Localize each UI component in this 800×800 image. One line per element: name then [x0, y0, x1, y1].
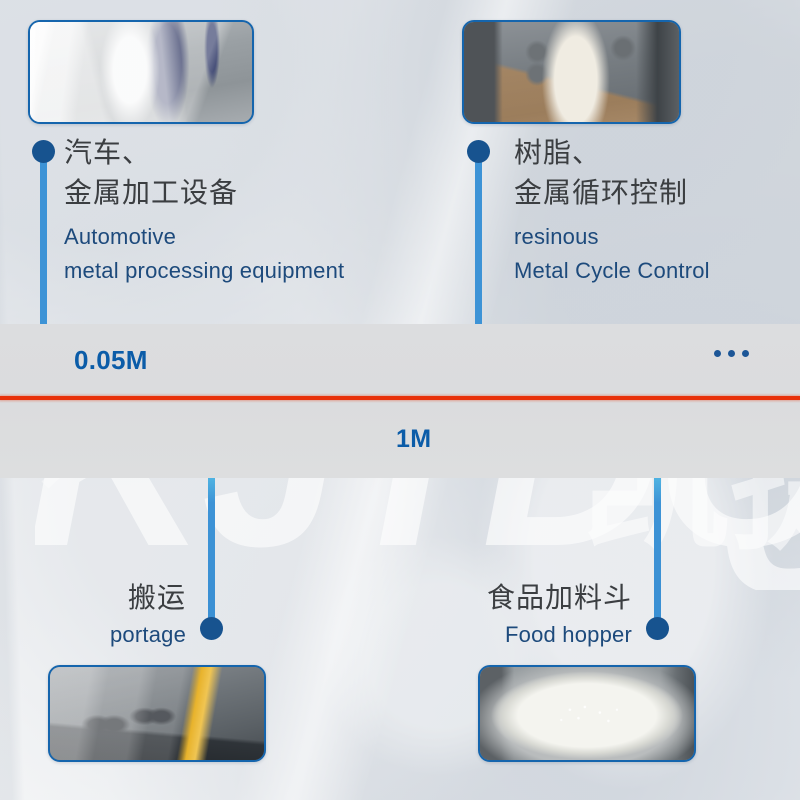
connector-node-food-hopper [646, 617, 669, 640]
connector-line-food-hopper [654, 478, 661, 633]
callout-food-hopper-en-line-1: Food hopper [400, 618, 632, 652]
callout-automotive-en-line-1: Automotive [64, 220, 344, 254]
callout-resin: 树脂、 金属循环控制 resinous Metal Cycle Control [514, 133, 710, 288]
connector-node-resin [467, 140, 490, 163]
measure-label-large: 1M [396, 425, 431, 454]
photo-resin-rollers-image [464, 22, 679, 122]
dot-1 [714, 350, 721, 357]
reference-red-line [0, 396, 800, 400]
connector-node-portage [200, 617, 223, 640]
connector-node-automotive [32, 140, 55, 163]
photo-drilling-coolant [28, 20, 254, 124]
dot-3 [742, 350, 749, 357]
callout-food-hopper: 食品加料斗 Food hopper [400, 578, 632, 652]
infographic-stage: KJTDQ 凯捷 ® 0.05M 1M 汽车、 金属加工设备 Automotiv… [0, 0, 800, 800]
callout-resin-en-line-1: resinous [514, 220, 710, 254]
photo-drilling-coolant-image [30, 22, 252, 122]
photo-food-hopper [478, 665, 696, 762]
dot-2 [728, 350, 735, 357]
callout-automotive-cn-line-2: 金属加工设备 [64, 173, 344, 213]
callout-portage-en-line-1: portage [0, 618, 186, 652]
connector-line-automotive [40, 152, 47, 324]
callout-resin-cn-line-1: 树脂、 [514, 133, 710, 173]
callout-resin-cn-line-2: 金属循环控制 [514, 173, 710, 213]
photo-resin-rollers [462, 20, 681, 124]
callout-resin-en-line-2: Metal Cycle Control [514, 254, 710, 288]
callout-automotive-cn-line-1: 汽车、 [64, 133, 344, 173]
photo-engine-blocks [48, 665, 266, 762]
callout-food-hopper-cn-line-1: 食品加料斗 [400, 578, 632, 618]
callout-automotive: 汽车、 金属加工设备 Automotive metal processing e… [64, 133, 344, 288]
connector-line-resin [475, 152, 482, 324]
callout-automotive-en-line-2: metal processing equipment [64, 254, 344, 288]
connector-line-portage [208, 478, 215, 633]
photo-engine-blocks-image [50, 667, 264, 760]
photo-food-hopper-image [480, 667, 694, 760]
callout-portage: 搬运 portage [0, 578, 186, 652]
measure-label-small: 0.05M [74, 345, 148, 376]
callout-portage-cn-line-1: 搬运 [0, 578, 186, 618]
more-indicator-icon [714, 350, 749, 357]
